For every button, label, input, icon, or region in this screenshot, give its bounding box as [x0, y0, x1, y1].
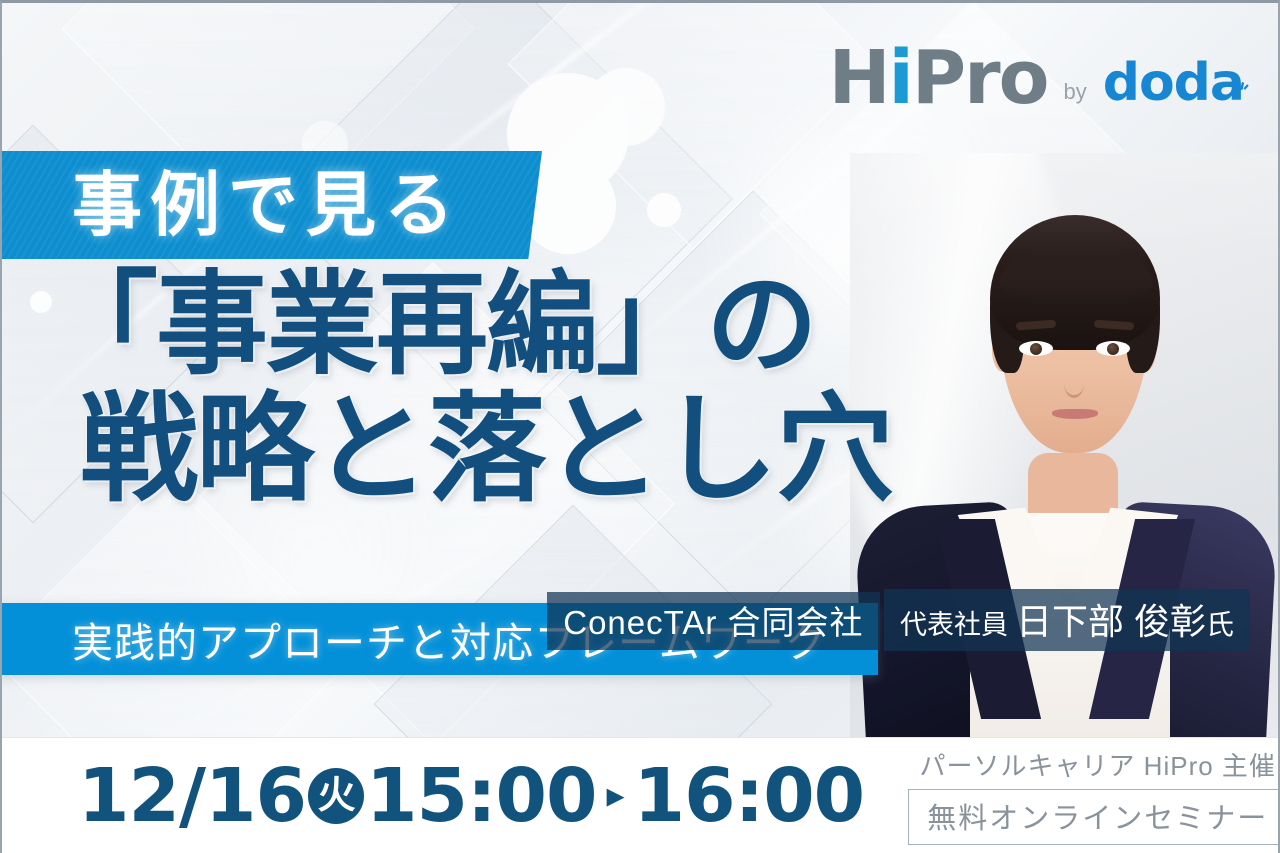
- logo-by-label: by: [1063, 79, 1086, 115]
- weekday-badge: 火: [308, 768, 364, 824]
- brand-logo: HiPro by doda: [829, 41, 1244, 115]
- speaker-name-suffix: 氏: [1206, 609, 1234, 640]
- hipro-logo-i: i: [889, 35, 912, 121]
- headline-line-1: 「事業再編」の: [2, 269, 862, 381]
- host-name: パーソルキャリア HiPro 主催: [908, 746, 1280, 783]
- speaker-company: ConecTAr 合同会社: [547, 592, 879, 650]
- eyebrow-ribbon: 事例で見る: [0, 151, 542, 259]
- schedule-start-time: 15:00: [366, 759, 597, 833]
- speaker-credit: ConecTAr 合同会社 代表社員日下部 俊彰氏: [547, 583, 1250, 651]
- footer-bar: 12/16火15:00▸16:00 パーソルキャリア HiPro 主催 無料オン…: [2, 737, 1280, 853]
- headline: 「事業再編」の 戦略と落とし穴: [2, 269, 862, 509]
- hipro-logo-h: H: [829, 35, 889, 121]
- host-block: パーソルキャリア HiPro 主催 無料オンラインセミナー: [908, 746, 1280, 845]
- hipro-logo: HiPro: [829, 41, 1048, 115]
- seminar-banner: HiPro by doda 事例で見る 「事業再編」の 戦略と落とし穴 実践的ア…: [0, 0, 1280, 853]
- speaker-portrait: [850, 153, 1280, 741]
- speaker-role: 代表社員: [900, 610, 1008, 640]
- headline-line-2: 戦略と落とし穴: [2, 391, 862, 509]
- doda-logo: doda: [1103, 57, 1244, 115]
- schedule-block: 12/16火15:00▸16:00: [2, 759, 864, 833]
- doda-logo-text: doda: [1103, 53, 1244, 113]
- schedule-end-time: 16:00: [634, 759, 865, 833]
- schedule-date: 12/16: [78, 759, 306, 833]
- speaker-name: 日下部 俊彰: [1016, 601, 1206, 642]
- time-range-arrow-icon: ▸: [607, 778, 624, 814]
- hipro-logo-pro: Pro: [912, 35, 1048, 121]
- free-seminar-badge: 無料オンラインセミナー: [908, 789, 1280, 845]
- doda-sparkle-icon: [1234, 55, 1250, 71]
- speaker-name-plate: 代表社員日下部 俊彰氏: [884, 589, 1250, 651]
- ribbon-label: 事例で見る: [72, 163, 462, 247]
